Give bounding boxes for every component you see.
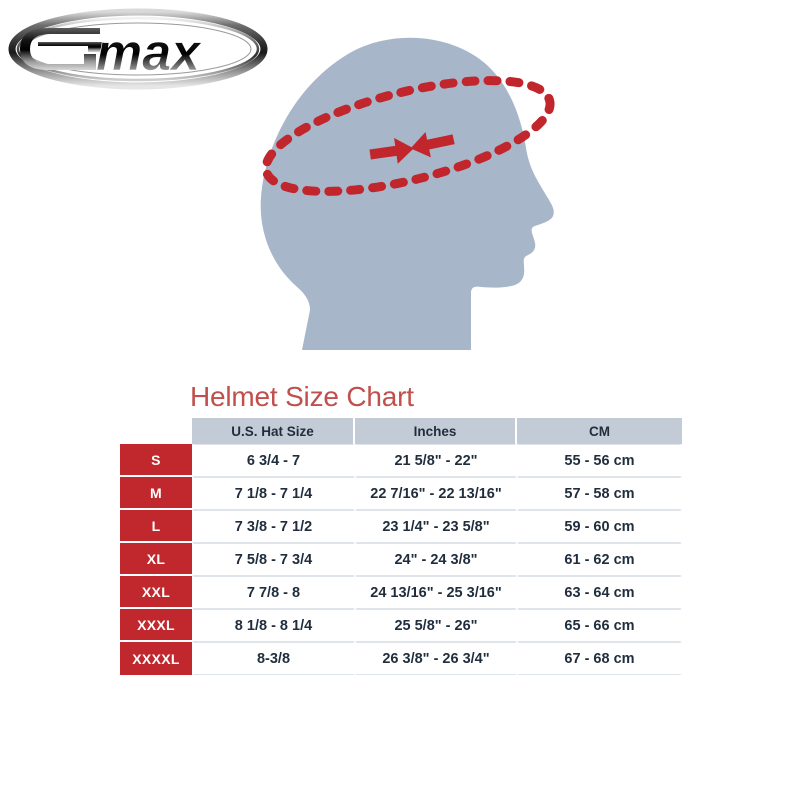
- size-badge: M: [120, 477, 192, 510]
- cell-us-hat-size: 8-3/8: [192, 642, 355, 675]
- gmax-brand-logo: max: [8, 8, 268, 90]
- head-profile-icon: [240, 10, 600, 360]
- size-badge: S: [120, 444, 192, 477]
- size-badge: XXXXL: [120, 642, 192, 675]
- table-row: M 7 1/8 - 7 1/4 22 7/16" - 22 13/16" 57 …: [120, 477, 682, 510]
- cell-cm: 57 - 58 cm: [517, 477, 682, 510]
- size-table: U.S. Hat Size Inches CM S 6 3/4 - 7 21 5…: [120, 418, 682, 675]
- cell-us-hat-size: 7 1/8 - 7 1/4: [192, 477, 355, 510]
- size-badge: L: [120, 510, 192, 543]
- cell-us-hat-size: 8 1/8 - 8 1/4: [192, 609, 355, 642]
- table-row: XXXXL 8-3/8 26 3/8" - 26 3/4" 67 - 68 cm: [120, 642, 682, 675]
- cell-cm: 65 - 66 cm: [517, 609, 682, 642]
- helmet-size-chart: Helmet Size Chart U.S. Hat Size Inches C…: [120, 380, 682, 675]
- cell-inches: 26 3/8" - 26 3/4": [355, 642, 517, 675]
- page-title: Helmet Size Chart: [190, 380, 682, 414]
- column-header-inches: Inches: [355, 418, 517, 444]
- cell-cm: 67 - 68 cm: [517, 642, 682, 675]
- gmax-logo-icon: max: [8, 8, 268, 90]
- size-badge: XL: [120, 543, 192, 576]
- cell-cm: 61 - 62 cm: [517, 543, 682, 576]
- size-badge: XXL: [120, 576, 192, 609]
- column-header-us-hat-size: U.S. Hat Size: [192, 418, 355, 444]
- cell-inches: 22 7/16" - 22 13/16": [355, 477, 517, 510]
- cell-us-hat-size: 7 3/8 - 7 1/2: [192, 510, 355, 543]
- table-row: S 6 3/4 - 7 21 5/8" - 22" 55 - 56 cm: [120, 444, 682, 477]
- cell-us-hat-size: 7 5/8 - 7 3/4: [192, 543, 355, 576]
- table-body: S 6 3/4 - 7 21 5/8" - 22" 55 - 56 cm M 7…: [120, 444, 682, 675]
- cell-inches: 23 1/4" - 23 5/8": [355, 510, 517, 543]
- column-header-cm: CM: [517, 418, 682, 444]
- table-header: U.S. Hat Size Inches CM: [120, 418, 682, 444]
- cell-inches: 21 5/8" - 22": [355, 444, 517, 477]
- table-header-row: U.S. Hat Size Inches CM: [120, 418, 682, 444]
- cell-us-hat-size: 6 3/4 - 7: [192, 444, 355, 477]
- table-row: L 7 3/8 - 7 1/2 23 1/4" - 23 5/8" 59 - 6…: [120, 510, 682, 543]
- cell-inches: 24 13/16" - 25 3/16": [355, 576, 517, 609]
- table-row: XXXL 8 1/8 - 8 1/4 25 5/8" - 26" 65 - 66…: [120, 609, 682, 642]
- cell-cm: 59 - 60 cm: [517, 510, 682, 543]
- head-measure-illustration: [240, 10, 600, 360]
- logo-wordmark: max: [96, 24, 202, 82]
- cell-cm: 55 - 56 cm: [517, 444, 682, 477]
- column-header-size: [120, 418, 192, 444]
- cell-inches: 24" - 24 3/8": [355, 543, 517, 576]
- cell-cm: 63 - 64 cm: [517, 576, 682, 609]
- table-row: XXL 7 7/8 - 8 24 13/16" - 25 3/16" 63 - …: [120, 576, 682, 609]
- cell-inches: 25 5/8" - 26": [355, 609, 517, 642]
- cell-us-hat-size: 7 7/8 - 8: [192, 576, 355, 609]
- size-badge: XXXL: [120, 609, 192, 642]
- table-row: XL 7 5/8 - 7 3/4 24" - 24 3/8" 61 - 62 c…: [120, 543, 682, 576]
